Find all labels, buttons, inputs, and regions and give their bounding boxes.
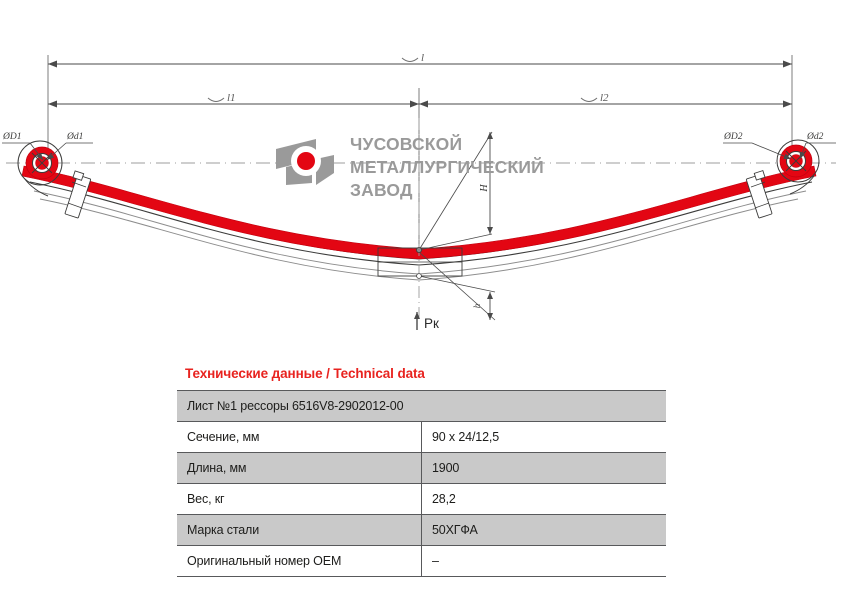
svg-text:H: H — [479, 184, 490, 193]
svg-text:l: l — [421, 52, 424, 64]
dimension-height-H: H — [419, 132, 492, 250]
table-row: Оригинальный номер OEM – — [177, 546, 666, 577]
table-cell-label: Длина, мм — [177, 453, 422, 484]
load-point-label: Рк — [424, 316, 439, 331]
leaf-spring-drawing: l l1 l2 — [0, 0, 842, 350]
svg-text:l2: l2 — [600, 92, 609, 104]
svg-text:ØD2: ØD2 — [723, 132, 743, 142]
table-row: Лист №1 рессоры 6516V8-2902012-00 — [177, 391, 666, 422]
svg-text:l1: l1 — [227, 92, 236, 104]
page-root: l l1 l2 — [0, 0, 842, 595]
svg-text:Ød1: Ød1 — [66, 132, 83, 142]
technical-data-table: Лист №1 рессоры 6516V8-2902012-00 Сечени… — [177, 390, 666, 577]
label-right-length: l2 — [581, 92, 609, 104]
table-cell-value: 1900 — [422, 453, 667, 484]
svg-text:Ød2: Ød2 — [806, 132, 824, 142]
table-cell-label: Сечение, мм — [177, 422, 422, 453]
svg-text:ØD1: ØD1 — [2, 132, 21, 142]
table-cell-value: 50ХГФА — [422, 515, 667, 546]
table-cell-value: – — [422, 546, 667, 577]
callout-eye-right-outer: ØD2 — [723, 132, 791, 159]
svg-text:h: h — [472, 303, 482, 308]
table-cell-label: Оригинальный номер OEM — [177, 546, 422, 577]
table-row: Вес, кг 28,2 — [177, 484, 666, 515]
label-left-length: l1 — [208, 92, 236, 104]
table-header-cell: Лист №1 рессоры 6516V8-2902012-00 — [177, 391, 666, 422]
table-cell-value: 90 x 24/12,5 — [422, 422, 667, 453]
table-cell-label: Вес, кг — [177, 484, 422, 515]
table-row: Сечение, мм 90 x 24/12,5 — [177, 422, 666, 453]
technical-data-block: Технические данные / Technical data Лист… — [177, 366, 666, 577]
table-row: Длина, мм 1900 — [177, 453, 666, 484]
dimension-extension-lines — [48, 55, 792, 250]
technical-data-title: Технические данные / Technical data — [185, 366, 666, 381]
drawing-svg: l l1 l2 — [0, 0, 842, 350]
label-total-length: l — [402, 52, 424, 64]
table-row: Марка стали 50ХГФА — [177, 515, 666, 546]
table-cell-label: Марка стали — [177, 515, 422, 546]
table-cell-value: 28,2 — [422, 484, 667, 515]
spring-lower-leaves — [30, 176, 812, 280]
